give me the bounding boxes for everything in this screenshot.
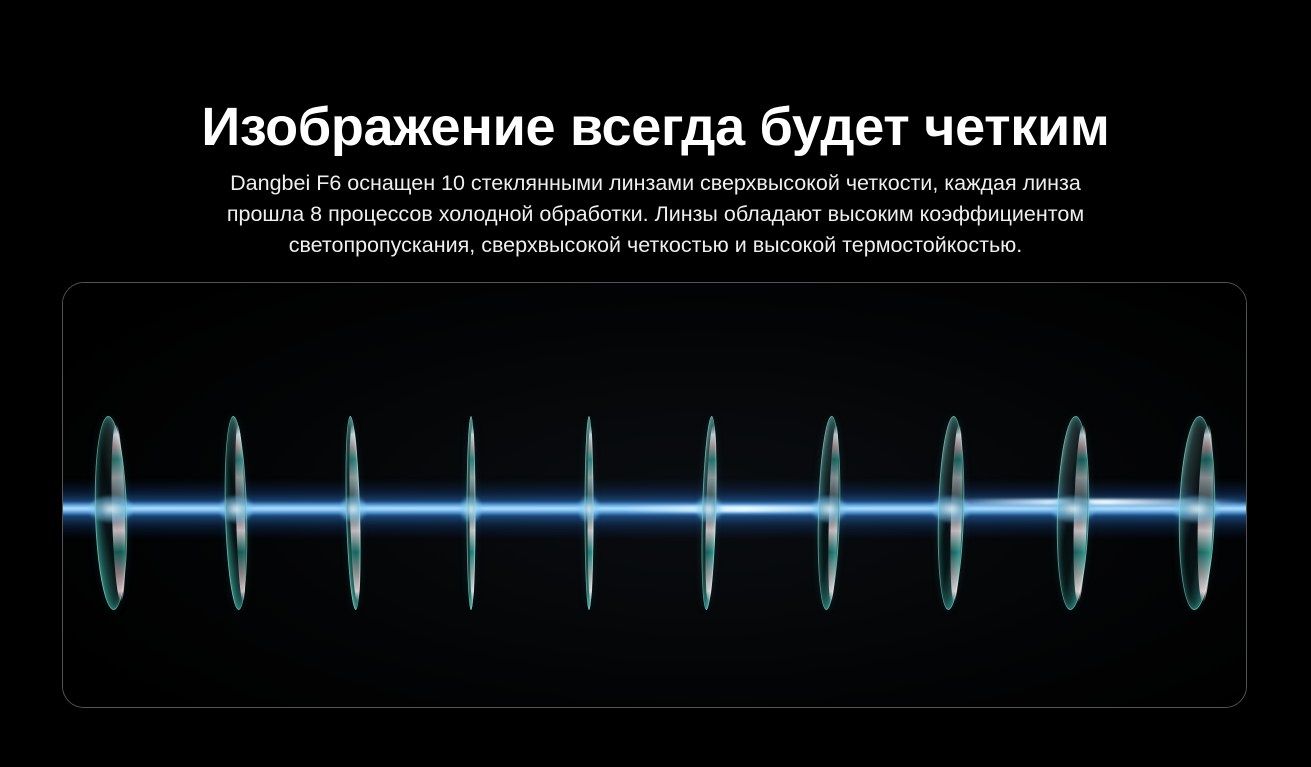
description-paragraph: Dangbei F6 оснащен 10 стеклянными линзам… xyxy=(101,168,1211,261)
page-root: Изображение всегда будет четким Dangbei … xyxy=(0,0,1311,767)
light-beam-hotspot xyxy=(623,506,843,512)
lens-element xyxy=(92,416,129,611)
lens-element xyxy=(935,416,966,611)
lens-figure-panel xyxy=(62,282,1247,708)
lens-element xyxy=(222,416,249,611)
lens-element xyxy=(467,416,476,610)
lens-element xyxy=(343,416,362,610)
lens-element xyxy=(585,416,594,610)
description-line-3: светопропускания, сверхвысокой четкостью… xyxy=(101,230,1211,261)
lens-element xyxy=(699,416,718,610)
description-line-2: прошла 8 процессов холодной обработки. Л… xyxy=(101,199,1211,230)
lens-element xyxy=(1176,416,1217,611)
lens-element xyxy=(815,416,842,611)
page-title: Изображение всегда будет четким xyxy=(0,98,1311,157)
lens-stage xyxy=(63,283,1246,707)
description-line-1: Dangbei F6 оснащен 10 стеклянными линзам… xyxy=(101,168,1211,199)
lens-element xyxy=(1054,416,1091,611)
